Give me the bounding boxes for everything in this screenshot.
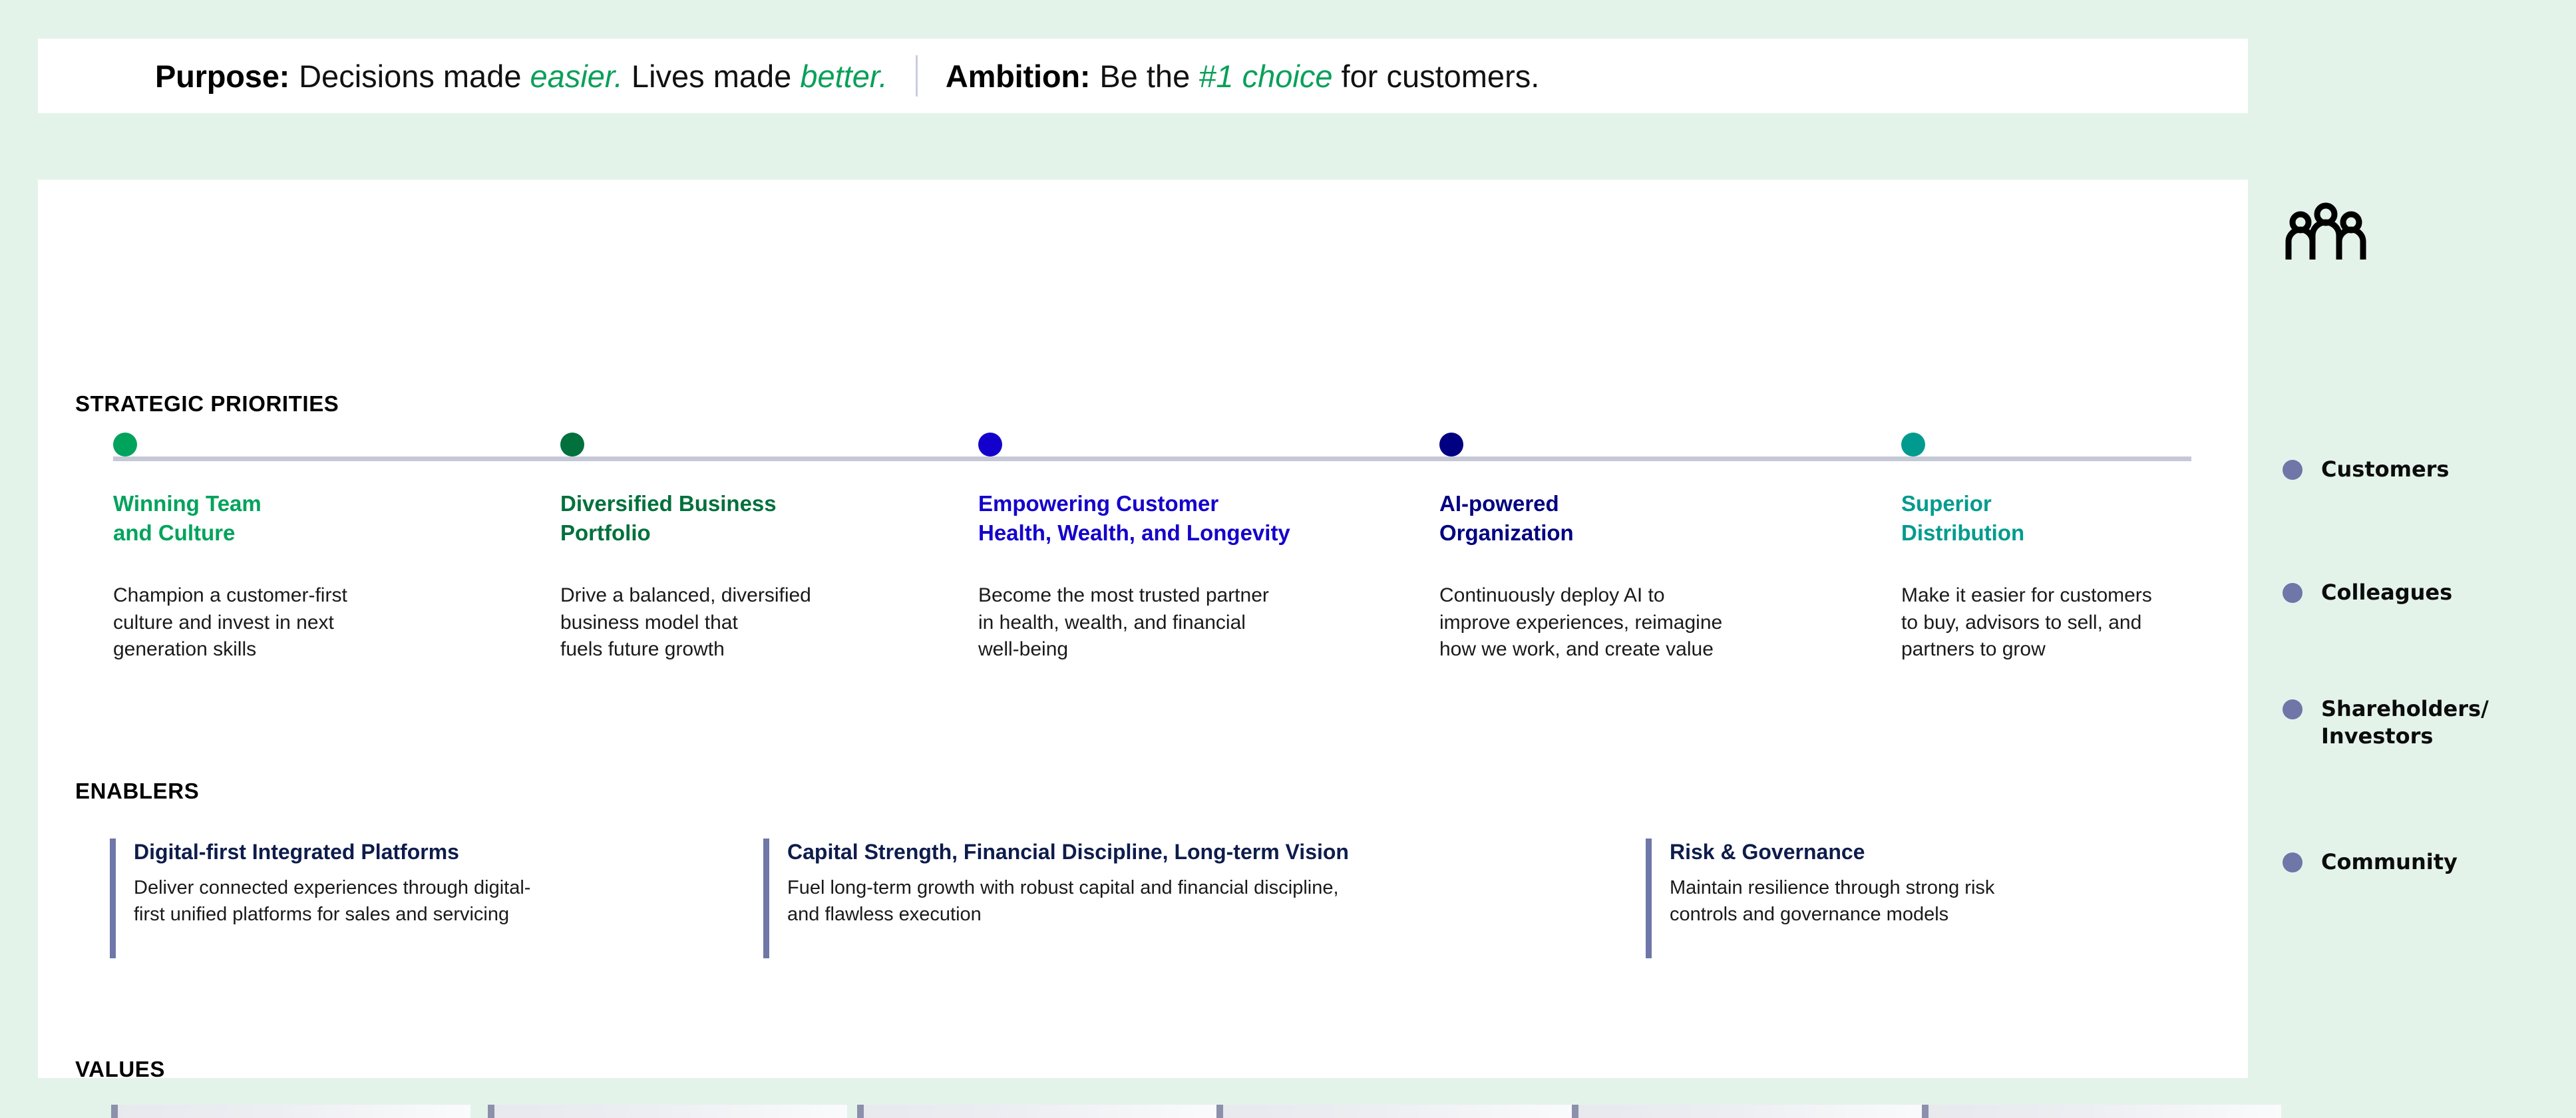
priority-title: Superior Distribution (1901, 489, 2314, 547)
stakeholder-bullet-icon (2283, 460, 2302, 480)
stakeholder-bullet-icon (2283, 852, 2302, 872)
priority-dot-icon (560, 433, 584, 457)
stakeholder-item: Customers (2283, 456, 2449, 483)
enabler-title: Digital-first Integrated Platforms (134, 838, 762, 865)
strategy-framework-slide: Purpose: Decisions made easier. Lives ma… (0, 0, 2576, 1118)
priority-title: AI-powered Organization (1439, 489, 1905, 547)
priority-description: Continuously deploy AI to improve experi… (1439, 582, 1905, 663)
priority-dot-icon (113, 433, 137, 457)
priority-title: Empowering Customer Health, Wealth, and … (978, 489, 1444, 547)
ambition-emphasis-choice: #1 choice (1198, 59, 1332, 94)
stakeholder-item: Shareholders/ Investors (2283, 695, 2489, 750)
priority-title: Winning Team and Culture (113, 489, 552, 547)
enabler-item: Risk & GovernanceMaintain resilience thr… (1646, 838, 2245, 928)
stakeholder-label: Community (2321, 848, 2458, 876)
enabler-description: Fuel long-term growth with robust capita… (787, 874, 1642, 928)
enabler-item: Capital Strength, Financial Discipline, … (763, 838, 1642, 928)
ambition-statement: Be the #1 choice for customers. (1099, 58, 1539, 94)
enabler-title: Capital Strength, Financial Discipline, … (787, 838, 1642, 865)
priority-dot-icon (1439, 433, 1463, 457)
enablers-heading: ENABLERS (75, 779, 199, 804)
purpose-emphasis-easier: easier. (530, 59, 623, 94)
people-group-icon (2283, 200, 2369, 270)
priority-description: Make it easier for customers to buy, adv… (1901, 582, 2314, 663)
stakeholder-bullet-icon (2283, 699, 2302, 719)
value-card: Get it done together (1216, 1105, 1576, 1118)
stakeholder-label: Customers (2321, 456, 2449, 483)
stakeholder-label: Colleagues (2321, 579, 2452, 606)
value-card: Own it (1922, 1105, 2281, 1118)
framework-card: STRATEGIC PRIORITIES Winning Team and Cu… (38, 180, 2248, 1078)
enabler-item: Digital-first Integrated PlatformsDelive… (110, 838, 762, 928)
purpose-ambition-banner: Purpose: Decisions made easier. Lives ma… (38, 39, 2248, 113)
priority-dot-icon (1901, 433, 1925, 457)
purpose-statement: Decisions made easier. Lives made better… (299, 58, 888, 94)
value-card: Obsess about customers (111, 1105, 470, 1118)
banner-divider (916, 55, 918, 96)
banner-content: Purpose: Decisions made easier. Lives ma… (155, 55, 1539, 96)
value-card: Think big (857, 1105, 1216, 1118)
priority-description: Drive a balanced, diversified business m… (560, 582, 1000, 663)
priority-title: Diversified Business Portfolio (560, 489, 1000, 547)
priority-dot-icon (978, 433, 1002, 457)
purpose-emphasis-better: better. (800, 59, 888, 94)
stakeholder-item: Colleagues (2283, 579, 2452, 606)
priority-description: Become the most trusted partner in healt… (978, 582, 1444, 663)
stakeholder-bullet-icon (2283, 583, 2302, 603)
values-heading: VALUES (75, 1057, 165, 1082)
ambition-text-2: for customers. (1332, 59, 1539, 94)
enabler-description: Maintain resilience through strong risk … (1670, 874, 2245, 928)
priority-description: Champion a customer-first culture and in… (113, 582, 552, 663)
ambition-text-1: Be the (1099, 59, 1198, 94)
strategic-priorities-group: Winning Team and CultureChampion a custo… (38, 180, 2248, 1078)
purpose-text-2: Lives made (623, 59, 800, 94)
enabler-title: Risk & Governance (1670, 838, 2245, 865)
purpose-label: Purpose: (155, 58, 289, 94)
enabler-description: Deliver connected experiences through di… (134, 874, 762, 928)
ambition-label: Ambition: (946, 58, 1090, 94)
stakeholder-item: Community (2283, 848, 2458, 876)
value-card: Share your humanity (1572, 1105, 1931, 1118)
value-card: Do the right thing (488, 1105, 847, 1118)
stakeholder-label: Shareholders/ Investors (2321, 695, 2489, 750)
purpose-text-1: Decisions made (299, 59, 530, 94)
